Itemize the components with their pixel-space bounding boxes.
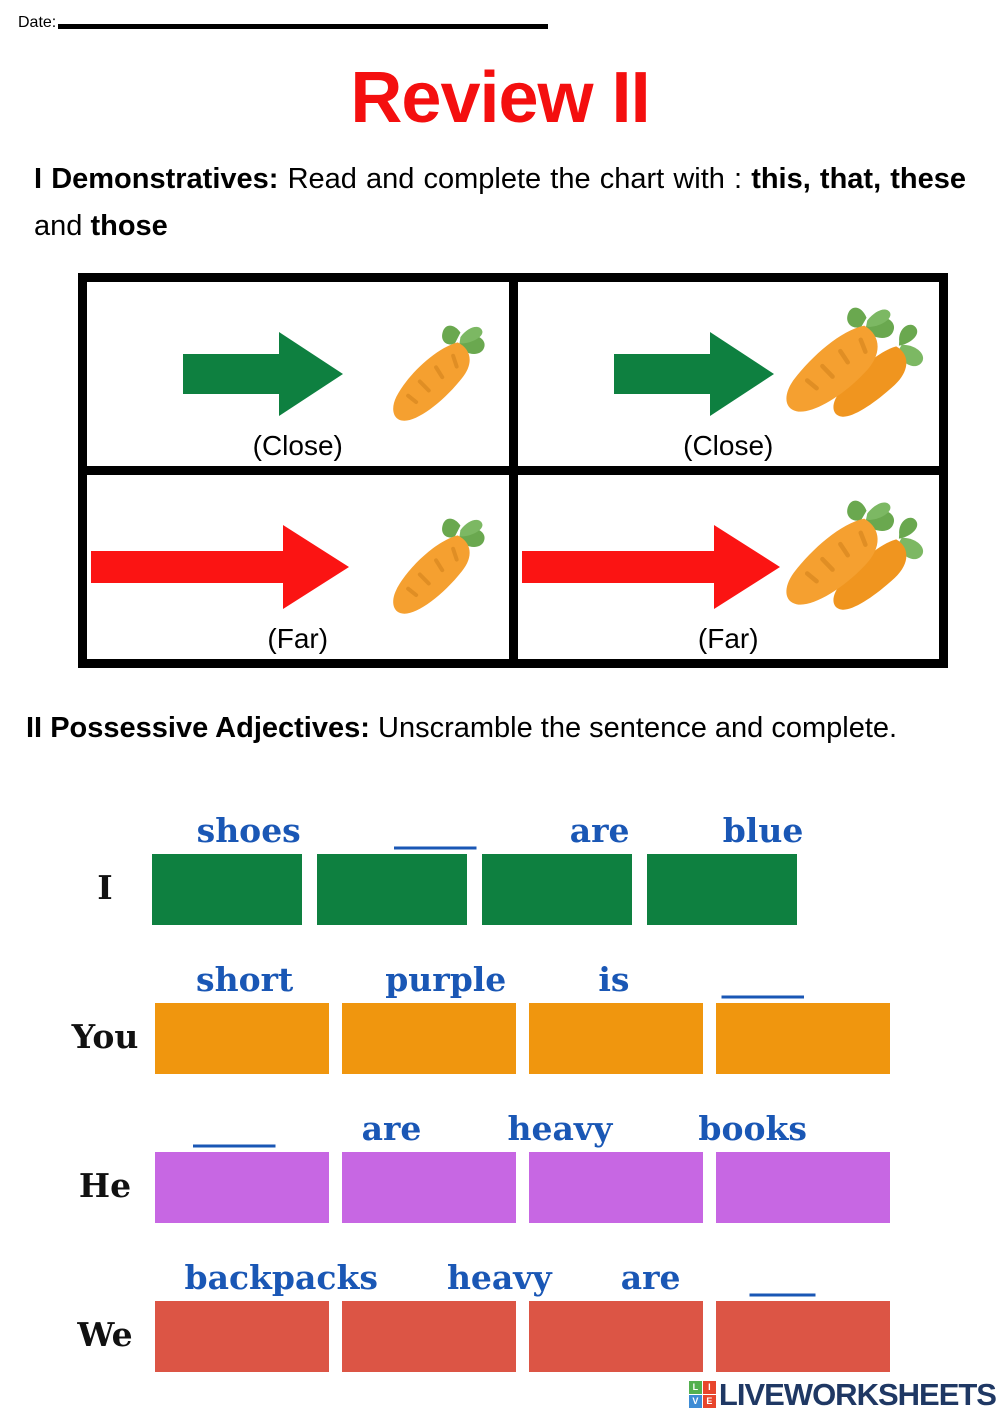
scramble-word-list: backpacks heavy are ____ (150, 1253, 850, 1297)
cell-caption: (Far) (698, 623, 759, 655)
row-pronoun: You (62, 1017, 148, 1056)
answer-drop-box[interactable] (529, 1152, 703, 1223)
answer-drop-box[interactable] (716, 1152, 890, 1223)
page-title: Review II (0, 62, 1000, 134)
logo-tile-e: E (703, 1395, 716, 1408)
answer-drop-box[interactable] (482, 854, 632, 925)
section-one-instructions: I Demonstratives: Read and complete the … (34, 156, 966, 250)
answer-drop-box[interactable] (342, 1003, 516, 1074)
scramble-word: blue (723, 811, 804, 850)
answer-drop-box[interactable] (647, 854, 797, 925)
answer-drop-box[interactable] (716, 1003, 890, 1074)
section-one-instruction-text: Read and complete the chart with (288, 163, 734, 195)
carrot-single-icon (381, 497, 491, 637)
section-one-number: I (34, 163, 42, 195)
section-two-instructions: II Possessive Adjectives: Unscramble the… (26, 704, 971, 754)
row-pronoun: I (62, 868, 148, 907)
date-label: Date: (18, 14, 56, 32)
scramble-word: are (362, 1109, 422, 1148)
red-arrow-icon (91, 525, 349, 609)
answer-drop-box[interactable] (155, 1152, 329, 1223)
section-one-colon2: : (734, 163, 751, 195)
scramble-word: heavy (447, 1258, 552, 1297)
row-pronoun: He (62, 1166, 148, 1205)
chart-cell-far-multi[interactable]: (Far) (518, 475, 940, 659)
section-two-colon: : (360, 712, 370, 744)
answer-drop-box[interactable] (317, 854, 467, 925)
logo-tile-l: L (689, 1381, 702, 1394)
answer-drop-box[interactable] (529, 1301, 703, 1372)
scramble-row: short purple is _____ You (0, 955, 1000, 1104)
red-arrow-icon (522, 525, 780, 609)
answer-drop-box[interactable] (152, 854, 302, 925)
answer-drop-box[interactable] (155, 1003, 329, 1074)
answer-drop-box[interactable] (155, 1301, 329, 1372)
cell-caption: (Close) (253, 430, 343, 462)
answer-drop-box[interactable] (716, 1301, 890, 1372)
answer-box-group (152, 854, 797, 925)
chart-cell-close-multi[interactable]: (Close) (518, 282, 940, 466)
scramble-word: backpacks (185, 1258, 378, 1297)
cell-caption: (Close) (683, 430, 773, 462)
section-one-heading: Demonstratives (51, 163, 269, 195)
scramble-word: are (621, 1258, 681, 1297)
scramble-word-list: shoes _____ are blue (150, 806, 850, 850)
green-arrow-icon (183, 332, 343, 416)
scramble-word: _____ (193, 1109, 276, 1148)
scramble-word: purple (385, 960, 506, 999)
scramble-word-list: _____ are heavy books (150, 1104, 850, 1148)
section-two-number: II (26, 712, 42, 744)
scramble-row: shoes _____ are blue I (0, 806, 1000, 955)
section-two-instruction-text: Unscramble the sentence and complete. (370, 712, 897, 744)
liveworksheets-badge-icon: L I V E (689, 1381, 716, 1408)
chart-cell-close-single[interactable]: (Close) (87, 282, 509, 466)
scramble-word: short (196, 960, 293, 999)
scramble-word: _____ (394, 811, 477, 850)
liveworksheets-logo[interactable]: L I V E LIVEWORKSHEETS (689, 1379, 996, 1410)
answer-drop-box[interactable] (342, 1152, 516, 1223)
answer-drop-box[interactable] (342, 1301, 516, 1372)
liveworksheets-wordmark: LIVEWORKSHEETS (719, 1379, 996, 1410)
carrot-multiple-icon (781, 487, 931, 647)
demonstratives-chart: (Close) (78, 273, 948, 668)
answer-box-group (155, 1003, 890, 1074)
section-one-colon: : (269, 163, 279, 195)
scramble-word: heavy (508, 1109, 613, 1148)
scramble-word: _____ (721, 960, 804, 999)
answer-box-group (155, 1301, 890, 1372)
cell-caption: (Far) (267, 623, 328, 655)
scramble-word-list: short purple is _____ (150, 955, 850, 999)
unscramble-exercise: shoes _____ are blue I short purple is _… (0, 806, 1000, 1402)
chart-cell-far-single[interactable]: (Far) (87, 475, 509, 659)
row-pronoun: We (62, 1315, 148, 1354)
scramble-word: ____ (749, 1258, 815, 1297)
answer-drop-box[interactable] (529, 1003, 703, 1074)
section-one-word-list: this, that, these (751, 163, 966, 195)
scramble-word: are (570, 811, 630, 850)
section-two-heading: Possessive Adjectives (50, 712, 360, 744)
carrot-single-icon (381, 304, 491, 444)
scramble-row: _____ are heavy books He (0, 1104, 1000, 1253)
logo-tile-v: V (689, 1395, 702, 1408)
section-one-word-last: those (90, 210, 167, 242)
logo-tile-i: I (703, 1381, 716, 1394)
date-blank-line[interactable] (58, 24, 548, 29)
section-one-conjunction: and (34, 210, 90, 242)
green-arrow-icon (614, 332, 774, 416)
scramble-word: books (698, 1109, 807, 1148)
scramble-word: is (598, 960, 629, 999)
answer-box-group (155, 1152, 890, 1223)
scramble-word: shoes (197, 811, 301, 850)
date-field: Date: (18, 14, 548, 32)
carrot-multiple-icon (781, 294, 931, 454)
